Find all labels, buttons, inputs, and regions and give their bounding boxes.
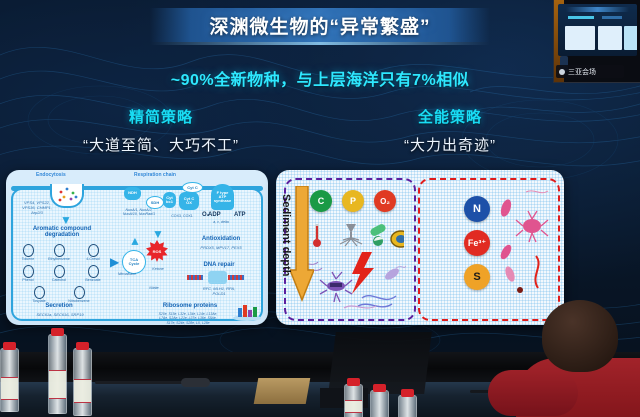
- chem-tosylate: Tosylate: [24, 286, 54, 303]
- cyt-c-oxidase-complex: Cyt C OX: [179, 192, 199, 210]
- lightning-bolt-icon: [352, 252, 374, 294]
- adp-label: ADP: [208, 212, 221, 218]
- atp-subunits: a, c, delta: [206, 220, 236, 224]
- dna-repair-enzyme-icon: [208, 271, 227, 284]
- bottle-label: [345, 400, 362, 413]
- inset-title-band: [566, 7, 629, 12]
- ribosome-title: Ribosome proteins: [150, 303, 230, 309]
- bottle-cap: [347, 378, 360, 386]
- arrow-down-ros: ▼: [152, 228, 164, 240]
- cell-circle-icon: [391, 231, 404, 247]
- element-oxygen: O₂: [374, 190, 396, 212]
- right-strategy-heading: 全能策略 “大力出奇迹”: [352, 106, 548, 155]
- dna-repair-genes: RFC, MLH1, RPA, POLD1: [188, 286, 250, 296]
- water-bottle: [48, 334, 67, 414]
- chem-toluene: Toluene: [14, 244, 42, 261]
- secretion-genes: SEC61a, SEC61ß, SRP19: [14, 312, 106, 317]
- ndh-complex: NDH: [124, 187, 141, 200]
- nuo-genes: NuoA/1, NuoA/2, NuoA/10, NuoRad/1: [118, 208, 160, 217]
- capsule-icon: [369, 223, 387, 246]
- element-iron: Fe³⁺: [464, 230, 490, 256]
- secretion-title: Secretion: [20, 303, 98, 309]
- audience-member: [516, 300, 640, 417]
- water-bottle: [73, 348, 92, 416]
- bottle-cap: [3, 342, 16, 350]
- water-bottle: [370, 390, 389, 417]
- water-bottle: [398, 395, 417, 417]
- left-strategy-quote: “大道至简、大巧不工”: [46, 134, 276, 155]
- audience-member-head: [542, 300, 618, 372]
- cox-genes: COX3, COX1: [163, 214, 201, 218]
- sediment-depth-label: Sediment depth: [280, 194, 292, 302]
- thermometer-icon: [313, 224, 321, 247]
- water-bottle: [0, 348, 19, 412]
- element-nitrogen: N: [464, 196, 490, 222]
- slide-title-band: 深渊微生物的“异常繁盛”: [150, 8, 490, 42]
- page-title: 深渊微生物的“异常繁盛”: [209, 12, 430, 39]
- chem-benzoate: Benzoate: [77, 265, 109, 282]
- inset-subtitle-bar: [568, 16, 594, 19]
- right-strategy-title: 全能策略: [352, 106, 548, 127]
- antioxidation-title: Antioxidation: [184, 236, 258, 242]
- ribosome-icon: [232, 302, 262, 322]
- bottle-label: [74, 379, 91, 403]
- chem-4-cresol: 4-Cresol: [77, 244, 109, 261]
- inset-subtitle-bar-2: [602, 16, 622, 19]
- inset-slide-preview: [558, 4, 637, 56]
- desk-object-box: [254, 378, 311, 404]
- bottle-cap: [76, 342, 89, 350]
- endocytosis-genes: VPS4, VPS22, VPS36, CHMP1, Arp2/3: [16, 200, 58, 215]
- chem-ethylbenzene: Ethylbenzene: [42, 244, 76, 261]
- slide-subtitle: ~90%全新物种，与上层海洋只有7%相似: [0, 66, 640, 90]
- element-sulfur: S: [464, 264, 490, 290]
- inset-card-mid: [598, 26, 622, 50]
- bottle-cap: [51, 328, 64, 336]
- left-strategy-title: 精简策略: [46, 106, 276, 127]
- dna-repair-title: DNA repair: [186, 262, 252, 268]
- flagellated-microbe-icon: [320, 272, 352, 302]
- pink-flagellate-icon: [516, 211, 548, 242]
- chem-phenol: Phenol: [14, 265, 42, 282]
- arrow-up-tca: ▼: [129, 236, 141, 248]
- water-bottle: [344, 384, 363, 417]
- endocytosis-label: Endocytosis: [36, 172, 66, 178]
- sediment-depth-arrow-icon: [290, 186, 314, 304]
- desk-microphone: [95, 378, 210, 387]
- cyt-bc1-complex: Cyt bc1: [163, 192, 176, 208]
- left-strategy-heading: 精简策略 “大道至简、大巧不工”: [46, 106, 276, 155]
- microphone-stem: [95, 381, 187, 384]
- respiration-chain-label: Respiration chain: [134, 172, 176, 178]
- microphone-head: [181, 378, 210, 387]
- screenshot-root: 深渊微生物的“异常繁盛” ~90%全新物种，与上层海洋只有7%相似 精简策略 “…: [0, 0, 640, 417]
- cell-metabolism-diagram: Endocytosis Respiration chain VPS4, VPS2…: [6, 170, 268, 325]
- bottle-label: [49, 370, 66, 399]
- audience-member-arm: [488, 370, 578, 416]
- participant-video-tile[interactable]: 三亚会场: [553, 0, 640, 83]
- inset-card-right: [624, 26, 637, 50]
- arrow-down-endocytosis: ▼: [60, 214, 72, 226]
- chem-nitroalkane: Nitroalkane: [110, 272, 144, 276]
- participant-name: 三亚会场: [568, 67, 596, 77]
- bacteriophage-icon: [340, 224, 362, 246]
- sediment-microbe-illustrations: [496, 186, 556, 306]
- right-strategy-quote: “大力出奇迹”: [352, 134, 548, 155]
- element-phosphorus: P: [342, 190, 364, 212]
- person-icon: [559, 69, 565, 75]
- chem-ketone: Ketone: [146, 267, 170, 271]
- inset-card-left: [565, 26, 595, 50]
- atp-label: ATP: [234, 212, 246, 218]
- bottle-label: [1, 377, 18, 400]
- participant-name-chip: 三亚会场: [556, 65, 624, 78]
- chem-catechol: Catechol: [42, 265, 76, 282]
- dna-strand-right-icon: [228, 275, 244, 280]
- dna-strand-left-icon: [187, 275, 203, 280]
- bottle-cap: [401, 389, 414, 397]
- aromatic-degradation-title: Aromatic compound degradation: [14, 226, 110, 238]
- chem-nitrobenzene: Nitrobenzene: [60, 286, 98, 303]
- tca-cycle-node: TCA Cycle: [122, 250, 146, 274]
- bottle-cap: [373, 384, 386, 392]
- atp-synthase-complex: F type ATP synthase: [211, 184, 234, 210]
- chem-nitrite: Nitrite: [142, 286, 166, 290]
- arrow-right-to-tca: ▶: [110, 256, 119, 268]
- antioxidation-genes: PRDX5, MPV17, PEX5: [182, 245, 260, 250]
- ribosome-genes: S20e, S15e, L32e, L34e, L14e, L13Ae, L7A…: [128, 312, 248, 325]
